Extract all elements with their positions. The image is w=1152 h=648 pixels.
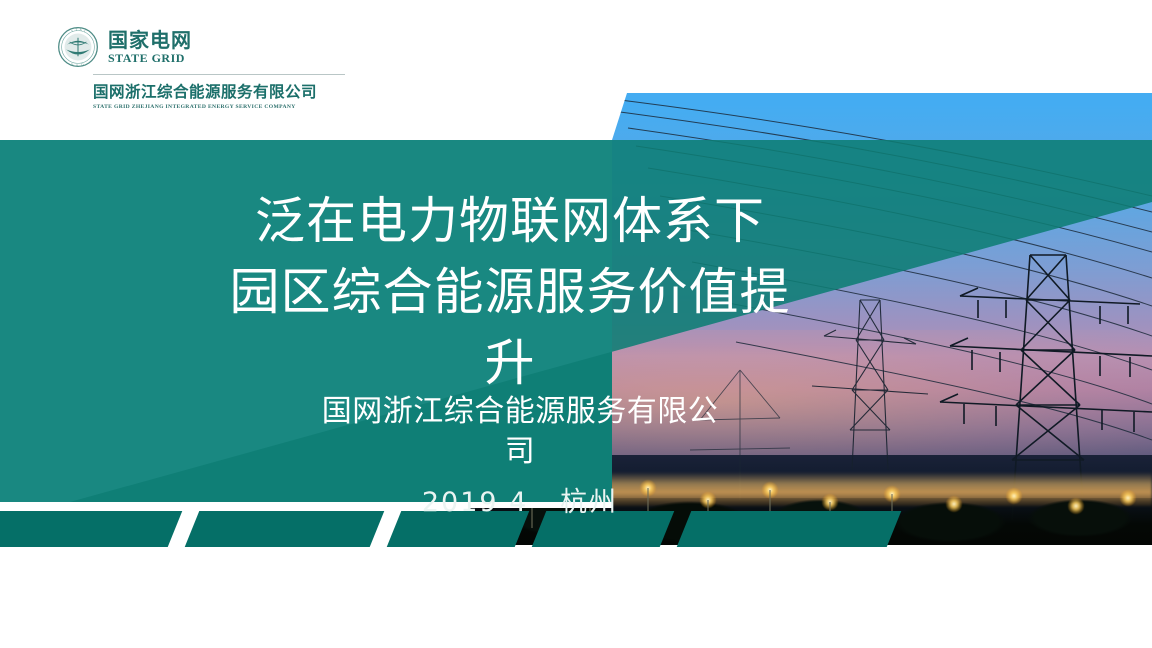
title-line-1: 泛在电力物联网体系下 bbox=[130, 186, 890, 257]
title-line-3: 升 bbox=[130, 328, 890, 399]
logo-wordmark: 国家电网 STATE GRID bbox=[108, 30, 192, 64]
logo-subsidiary-en: STATE GRID ZHEJIANG INTEGRATED ENERGY SE… bbox=[93, 104, 357, 110]
state-grid-emblem-icon: STAT GRD bbox=[57, 26, 99, 68]
slide-title: 泛在电力物联网体系下 园区综合能源服务价值提 升 bbox=[130, 186, 890, 399]
svg-text:T: T bbox=[84, 29, 86, 33]
logo-subsidiary-cn: 国网浙江综合能源服务有限公司 bbox=[93, 80, 357, 102]
title-line-2: 园区综合能源服务价值提 bbox=[130, 257, 890, 328]
svg-text:D: D bbox=[81, 62, 83, 66]
logo-company-en: STATE GRID bbox=[108, 52, 192, 64]
street-lamp-light bbox=[1120, 490, 1136, 506]
svg-text:R: R bbox=[76, 63, 78, 67]
svg-text:T: T bbox=[75, 28, 77, 32]
logo-company-cn: 国家电网 bbox=[108, 30, 192, 50]
slide-dateline: 2019 4 杭州 bbox=[270, 480, 770, 519]
street-lamp-light bbox=[1068, 498, 1084, 514]
svg-text:S: S bbox=[71, 29, 73, 33]
slide-subtitle: 国网浙江综合能源服务有限公 司 bbox=[220, 392, 820, 471]
presentation-slide: STAT GRD 国家电网 STATE GRID 国网浙江综合能源服务有限公司 … bbox=[0, 0, 1152, 648]
street-lamp-light bbox=[1006, 488, 1022, 504]
subtitle-line-2: 司 bbox=[220, 432, 820, 472]
subtitle-line-1: 国网浙江综合能源服务有限公 bbox=[220, 392, 820, 432]
logo-divider-line bbox=[93, 74, 345, 75]
brand-logo-block: STAT GRD 国家电网 STATE GRID 国网浙江综合能源服务有限公司 … bbox=[57, 26, 357, 110]
street-lamp-light bbox=[946, 496, 962, 512]
logo-primary-row: STAT GRD 国家电网 STATE GRID bbox=[57, 26, 357, 68]
decorative-stripe bbox=[0, 511, 182, 547]
